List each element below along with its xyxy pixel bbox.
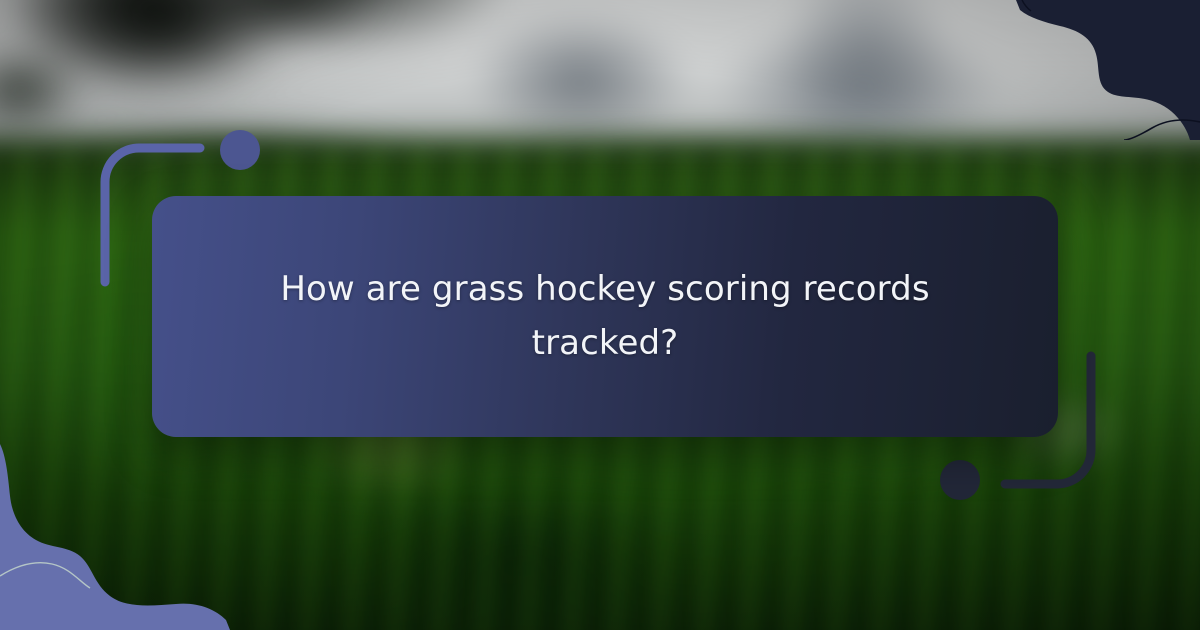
top-left-dot-decoration xyxy=(220,130,260,170)
question-title: How are grass hockey scoring records tra… xyxy=(265,263,945,370)
bottom-left-blob-decoration xyxy=(0,440,230,630)
bottom-right-dot-decoration xyxy=(940,460,980,500)
top-right-blob-decoration xyxy=(1000,0,1200,140)
poster-canvas: How are grass hockey scoring records tra… xyxy=(0,0,1200,630)
question-card: How are grass hockey scoring records tra… xyxy=(152,196,1058,437)
